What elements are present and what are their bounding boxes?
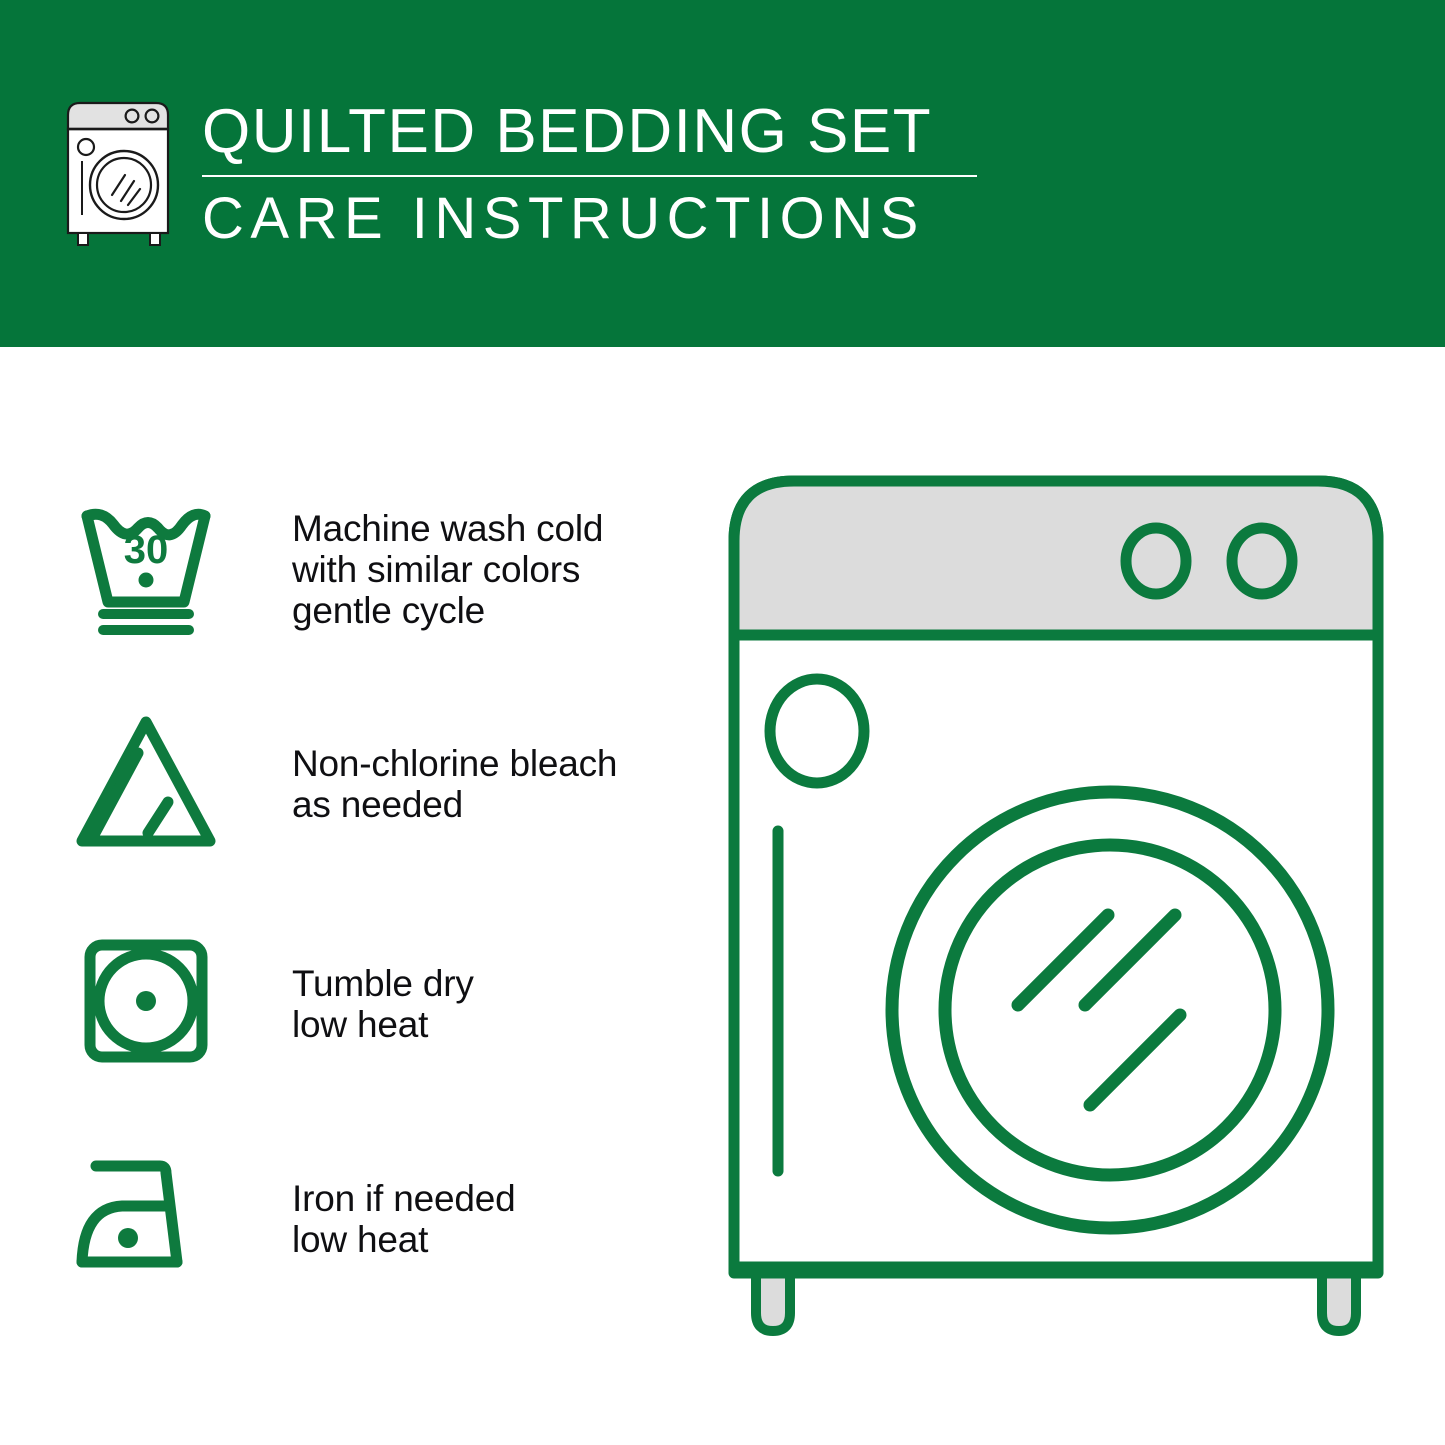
header-band: QUILTED BEDDING SET CARE INSTRUCTIONS <box>0 0 1445 347</box>
care-item-machine-wash: 30 Machine wash cold with similar colors… <box>70 488 690 640</box>
title-divider <box>202 175 977 177</box>
machine-knob-left <box>1126 528 1186 594</box>
header-content: QUILTED BEDDING SET CARE INSTRUCTIONS <box>62 95 1022 270</box>
wash-temperature-value: 30 <box>124 528 169 572</box>
washing-machine-icon <box>62 97 180 247</box>
care-instructions-page: QUILTED BEDDING SET CARE INSTRUCTIONS <box>0 0 1445 1445</box>
care-item-iron: Iron if needed low heat <box>70 1142 690 1294</box>
page-title: QUILTED BEDDING SET <box>202 97 1022 167</box>
non-chlorine-bleach-triangle-icon <box>70 705 222 857</box>
iron-low-heat-icon <box>70 1142 222 1294</box>
machine-latch-circle <box>770 679 864 783</box>
header-title-block: QUILTED BEDDING SET CARE INSTRUCTIONS <box>202 95 1022 252</box>
tumble-dry-low-heat-icon <box>70 925 222 1077</box>
machine-knob-right <box>1232 528 1292 594</box>
page-subtitle: CARE INSTRUCTIONS <box>202 186 1022 252</box>
care-item-label: Machine wash cold with similar colors ge… <box>292 488 690 631</box>
machine-door-outer <box>892 792 1328 1228</box>
wash-tub-30-gentle-icon: 30 <box>70 488 222 640</box>
care-item-label: Tumble dry low heat <box>292 925 690 1045</box>
care-item-label: Non-chlorine bleach as needed <box>292 705 690 825</box>
care-item-label: Iron if needed low heat <box>292 1142 690 1260</box>
care-item-tumble-dry: Tumble dry low heat <box>70 925 690 1077</box>
front-load-washing-machine-illustration <box>720 465 1410 1365</box>
care-item-bleach: Non-chlorine bleach as needed <box>70 705 690 857</box>
